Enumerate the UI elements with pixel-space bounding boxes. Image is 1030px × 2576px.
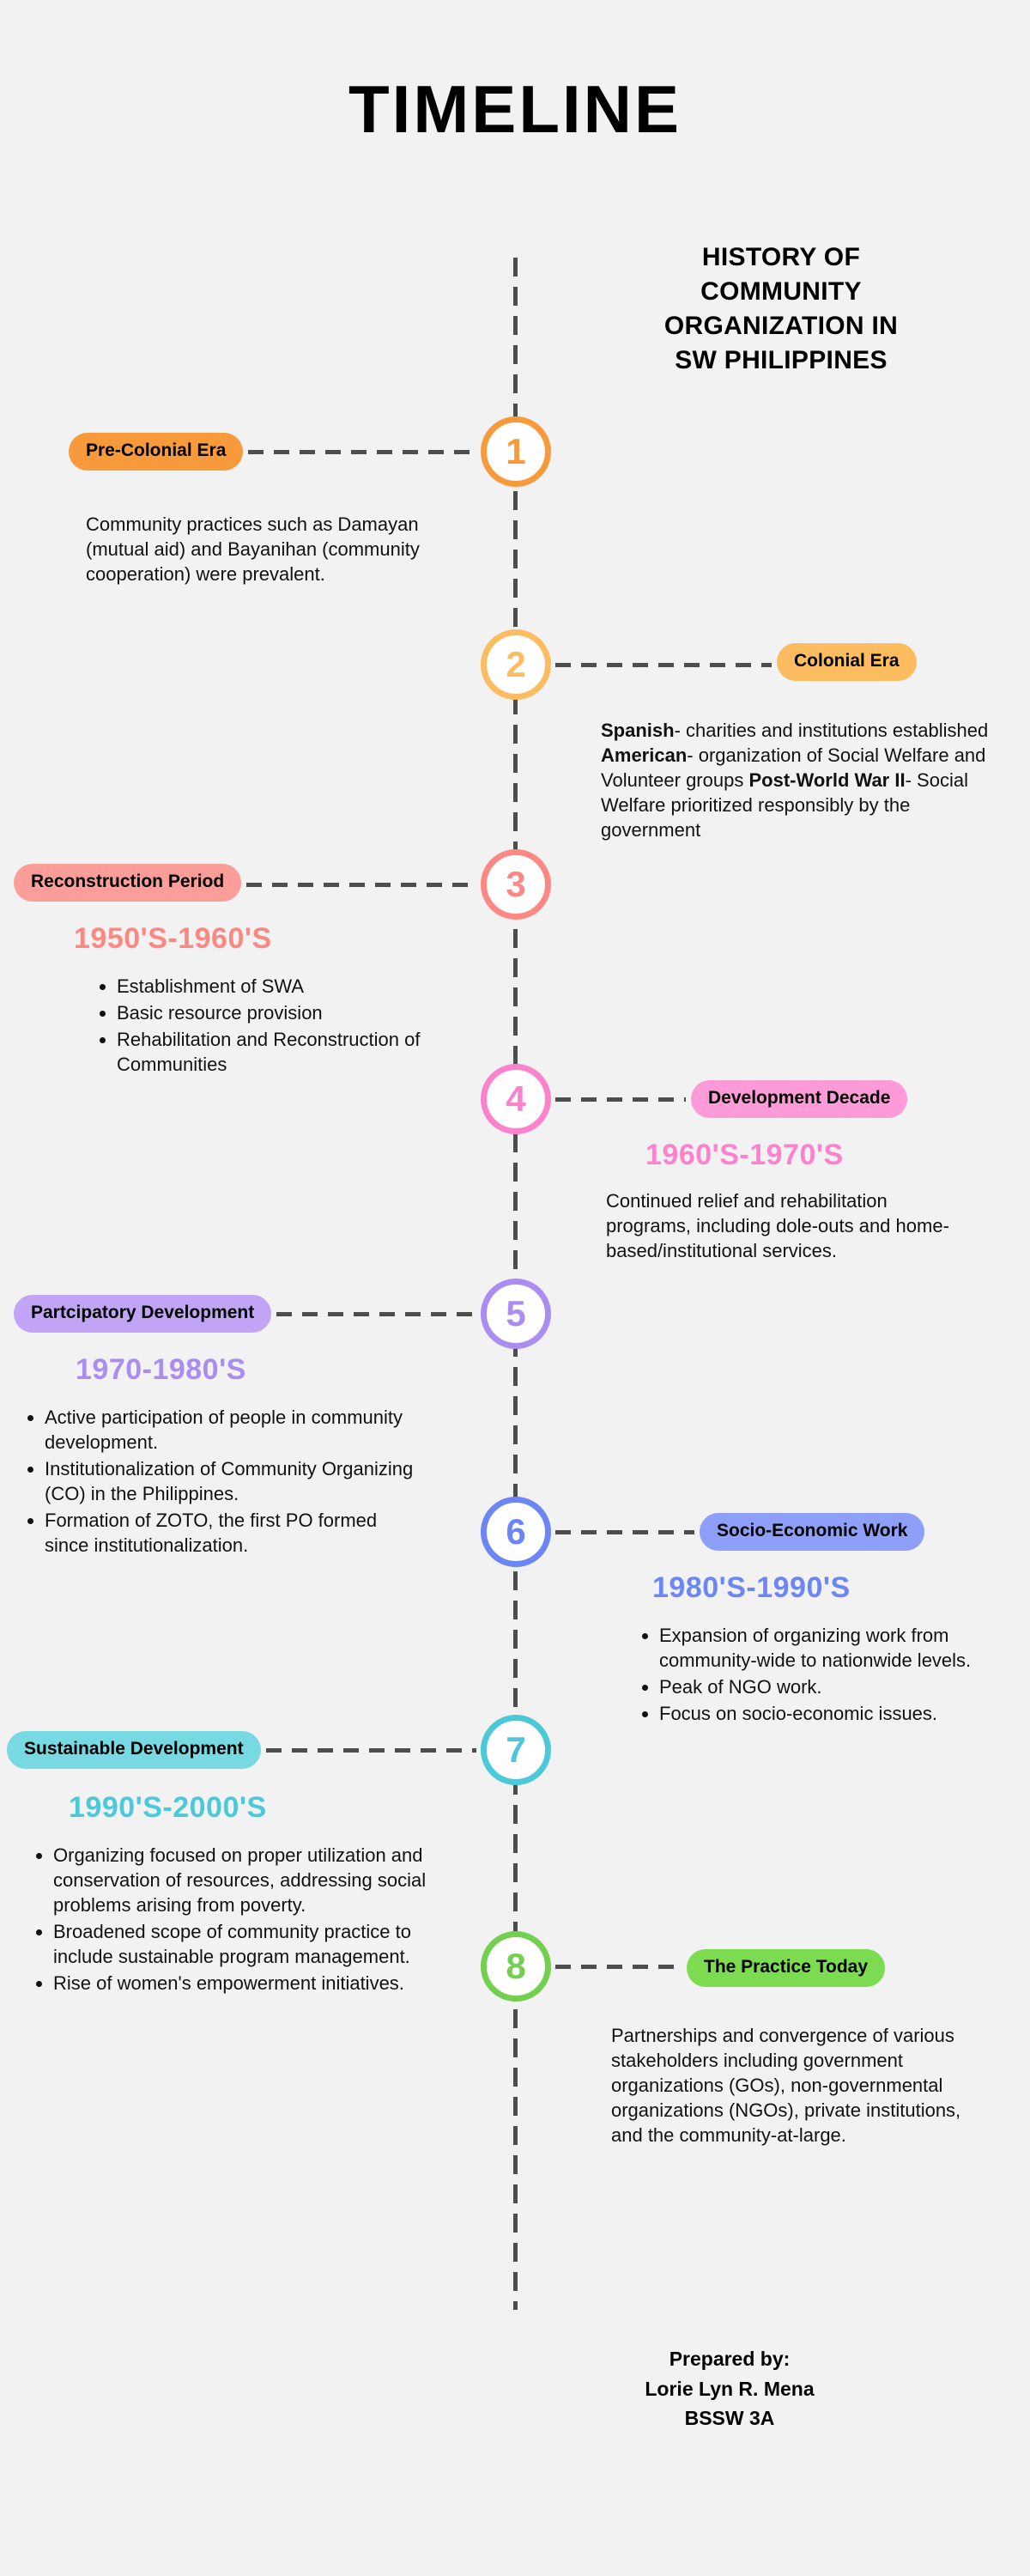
timeline-decade-3: 1950'S-1960'S	[74, 922, 272, 956]
timeline-badge-6[interactable]: Socio-Economic Work	[700, 1513, 924, 1551]
subtitle-line-3: ORGANIZATION IN	[618, 309, 944, 343]
timeline-bullets-3: Establishment of SWABasic resource provi…	[94, 974, 421, 1078]
footer-author: Lorie Lyn R. Mena	[549, 2374, 910, 2404]
timeline-node-number: 6	[506, 1511, 525, 1552]
connector-dash-5	[276, 1312, 476, 1316]
timeline-node-number: 1	[506, 431, 525, 472]
timeline-body-8: Partnerships and convergence of various …	[611, 2023, 980, 2148]
subtitle-line-4: SW PHILIPPINES	[618, 343, 944, 378]
timeline-badge-5[interactable]: Partcipatory Development	[14, 1295, 271, 1333]
connector-dash-8	[555, 1965, 682, 1969]
list-item: Establishment of SWA	[117, 974, 421, 999]
connector-dash-2	[555, 663, 772, 667]
timeline-body-4: Continued relief and rehabilitation prog…	[606, 1188, 966, 1263]
connector-dash-1	[248, 450, 476, 454]
timeline-badge-8[interactable]: The Practice Today	[687, 1949, 885, 1987]
timeline-body-2: Spanish- charities and institutions esta…	[601, 718, 996, 842]
connector-dash-7	[266, 1748, 476, 1753]
footer-section: BSSW 3A	[549, 2403, 910, 2433]
timeline-body-1: Community practices such as Damayan (mut…	[86, 512, 429, 586]
body-emphasis: American	[601, 744, 687, 766]
timeline-badge-3[interactable]: Reconstruction Period	[14, 864, 241, 902]
timeline-bullets-5: Active participation of people in commun…	[22, 1405, 426, 1559]
subtitle-line-1: HISTORY OF	[618, 240, 944, 275]
timeline-node-8: 8	[481, 1931, 551, 2002]
timeline-decade-5: 1970-1980'S	[76, 1353, 246, 1387]
timeline-node-2: 2	[481, 629, 551, 700]
list-item: Formation of ZOTO, the first PO formed s…	[45, 1508, 426, 1558]
connector-dash-3	[246, 883, 476, 887]
connector-dash-4	[555, 1097, 686, 1102]
list-item: Rehabilitation and Reconstruction of Com…	[117, 1027, 421, 1077]
footer-credits: Prepared by: Lorie Lyn R. Mena BSSW 3A	[549, 2344, 910, 2433]
timeline-bullets-7: Organizing focused on proper utilization…	[31, 1843, 443, 1997]
timeline-badge-2[interactable]: Colonial Era	[777, 643, 917, 681]
timeline-node-4: 4	[481, 1064, 551, 1134]
list-item: Peak of NGO work.	[659, 1674, 980, 1699]
timeline-node-7: 7	[481, 1715, 551, 1785]
list-item: Expansion of organizing work from commun…	[659, 1623, 980, 1673]
body-emphasis: Spanish	[601, 720, 675, 741]
timeline-badge-7[interactable]: Sustainable Development	[7, 1731, 261, 1769]
timeline-decade-4: 1960'S-1970'S	[645, 1139, 844, 1172]
timeline-decade-7: 1990'S-2000'S	[69, 1791, 267, 1825]
list-item: Rise of women's empowerment initiatives.	[53, 1971, 443, 1996]
timeline-node-number: 2	[506, 644, 525, 685]
list-item: Institutionalization of Community Organi…	[45, 1456, 426, 1506]
connector-dash-6	[555, 1530, 694, 1534]
body-emphasis: Post-World War II	[748, 769, 905, 791]
page-title: TIMELINE	[0, 0, 1030, 143]
infographic-subtitle: HISTORY OF COMMUNITY ORGANIZATION IN SW …	[618, 240, 944, 378]
timeline-node-6: 6	[481, 1497, 551, 1567]
timeline-node-1: 1	[481, 416, 551, 487]
list-item: Focus on socio-economic issues.	[659, 1701, 980, 1726]
list-item: Active participation of people in commun…	[45, 1405, 426, 1455]
timeline-badge-1[interactable]: Pre-Colonial Era	[69, 433, 243, 471]
timeline-node-number: 3	[506, 864, 525, 905]
timeline-node-number: 5	[506, 1293, 525, 1334]
footer-prepared-by: Prepared by:	[549, 2344, 910, 2374]
timeline-node-number: 7	[506, 1729, 525, 1771]
timeline-node-number: 8	[506, 1946, 525, 1987]
list-item: Organizing focused on proper utilization…	[53, 1843, 443, 1917]
list-item: Broadened scope of community practice to…	[53, 1919, 443, 1969]
timeline-decade-6: 1980'S-1990'S	[652, 1571, 851, 1605]
timeline-bullets-6: Expansion of organizing work from commun…	[637, 1623, 980, 1728]
timeline-badge-4[interactable]: Development Decade	[691, 1080, 907, 1118]
subtitle-line-2: COMMUNITY	[618, 275, 944, 309]
timeline-node-5: 5	[481, 1279, 551, 1349]
list-item: Basic resource provision	[117, 1000, 421, 1025]
timeline-node-number: 4	[506, 1078, 525, 1120]
timeline-node-3: 3	[481, 849, 551, 920]
